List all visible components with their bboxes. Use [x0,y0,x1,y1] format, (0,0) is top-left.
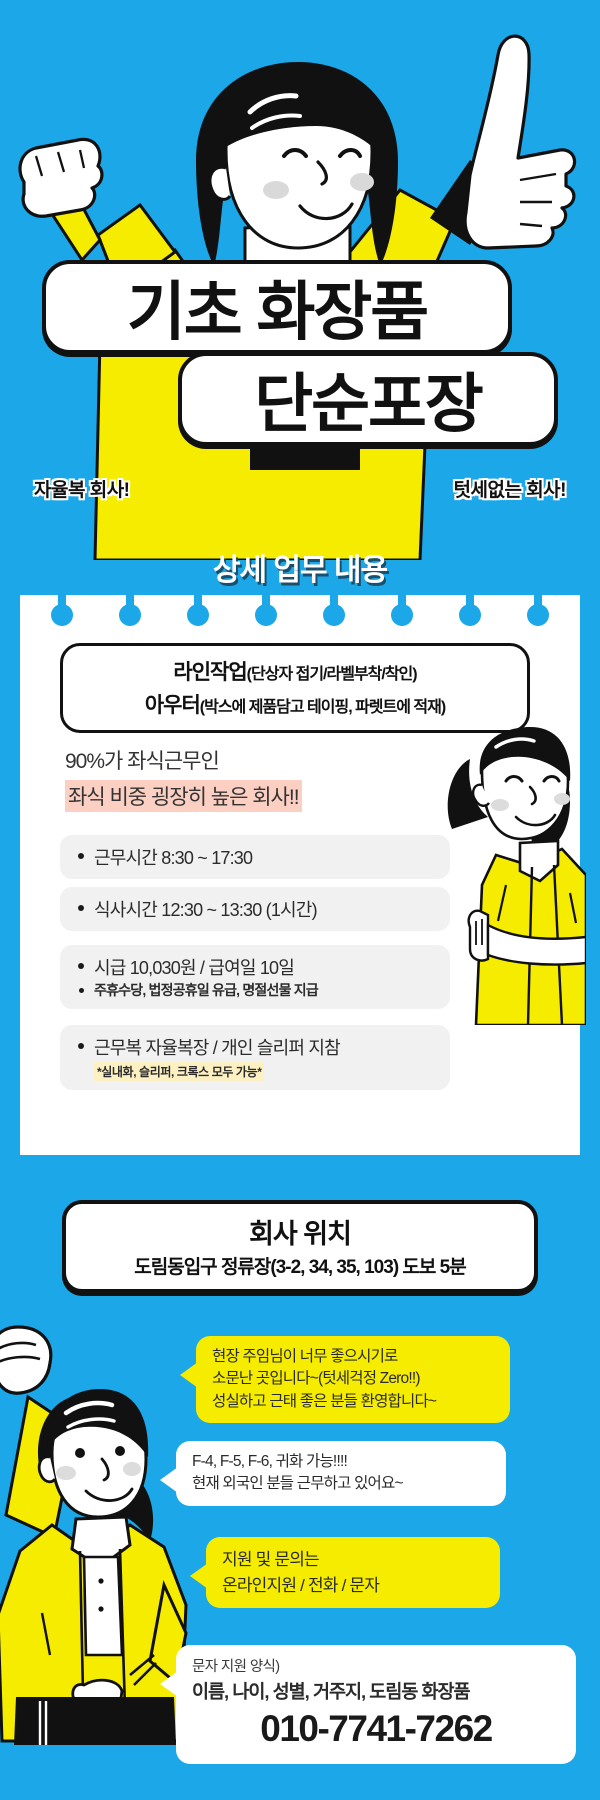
bubble-line: F-4, F-5, F-6, 귀화 가능!!!! [192,1451,490,1473]
title-line-1: 기초 화장품 [42,260,512,354]
seated-work-line-1: 90%가 좌식근무인 [65,745,405,775]
duties-illustration [436,725,586,1025]
duty-detail: (박스에 제품담고 테이핑, 파렛트에 적재) [200,699,445,716]
punch-hole [398,593,406,609]
speech-bubble-reputation: 현장 주임님이 너무 좋으시기로 소문난 곳입니다~(텃세걱정 Zero!!) … [196,1336,510,1423]
seated-work-note: 90%가 좌식근무인 좌식 비중 굉장히 높은 회사!! [65,745,405,812]
duty-title: 라인작업 [173,661,246,684]
bubble-tail-icon [160,1467,178,1493]
duty-item-text: 식사시간 12:30 ~ 13:30 (1시간) [94,896,317,922]
duty-item-wage: 시급 10,030원 / 급여일 10일 주휴수당, 법정공휴일 유급, 명절선… [60,945,450,1009]
tagline-right: 텃세없는 회사! [454,475,567,502]
bubble-line: 지원 및 문의는 [222,1547,484,1573]
duty-line: 아우터(박스에 제품담고 테이핑, 파렛트에 적재) [71,689,519,719]
punch-hole [58,593,66,609]
contact-bubble: 문자 지원 양식) 이름, 나이, 성별, 거주지, 도림동 화장품 010-7… [176,1645,576,1764]
phone-number[interactable]: 010-7741-7262 [192,1708,560,1750]
duty-detail: (단상자 접기/라벨부착/착인) [247,666,417,683]
speech-bubble-apply: 지원 및 문의는 온라인지원 / 전화 / 문자 [206,1537,500,1608]
duty-title: 아우터 [145,694,200,717]
punch-hole [534,593,542,609]
duty-item-text: 근무복 자율복장 / 개인 슬리퍼 지참 [94,1034,340,1060]
bubble-tail-icon [180,1362,198,1388]
bullet-dot-icon [78,1043,84,1049]
duty-summary-box: 라인작업(단상자 접기/라벨부착/착인) 아우터(박스에 제품담고 테이핑, 파… [60,643,530,733]
duty-item-text: 근무시간 8:30 ~ 17:30 [94,844,252,870]
location-detail: 도림동입구 정류장(3-2, 34, 35, 103) 도보 5분 [76,1252,524,1279]
bullet-dot-icon [78,853,84,859]
bubble-line: 온라인지원 / 전화 / 문자 [222,1573,484,1599]
arc-headline [0,4,600,184]
location-box: 회사 위치 도림동입구 정류장(3-2, 34, 35, 103) 도보 5분 [62,1200,538,1293]
bullet-dot-icon [79,988,84,993]
bullet-dot-icon [78,963,84,969]
duty-item-meal-time: 식사시간 12:30 ~ 13:30 (1시간) [60,887,450,931]
sms-form-label: 문자 지원 양식) [192,1655,560,1676]
duties-heading: 상세 업무 내용 [0,545,600,589]
bubble-tail-icon [190,1563,208,1589]
sms-form-fields: 이름, 나이, 성별, 거주지, 도림동 화장품 [192,1678,560,1704]
duty-item-note: *실내화, 슬리퍼, 크록스 모두 가능* [94,1062,264,1081]
title-line-2: 단순포장 [178,352,558,446]
duty-item-dress-code: 근무복 자율복장 / 개인 슬리퍼 지참 *실내화, 슬리퍼, 크록스 모두 가… [60,1025,450,1090]
duty-line: 라인작업(단상자 접기/라벨부착/착인) [71,656,519,686]
bubble-line: 현재 외국인 분들 근무하고 있어요~ [192,1473,490,1495]
punch-hole [194,593,202,609]
bubble-line: 현장 주임님이 너무 좋으시기로 [212,1346,494,1368]
bubble-line: 소문난 곳입니다~(텃세걱정 Zero!!) [212,1368,494,1390]
punch-hole [126,593,134,609]
punch-hole [466,593,474,609]
duty-item-text: 시급 10,030원 / 급여일 10일 [94,954,294,980]
punch-hole-row [20,595,580,625]
duties-panel: 라인작업(단상자 접기/라벨부착/착인) 아우터(박스에 제품담고 테이핑, 파… [20,595,580,1155]
bubble-tail-icon [160,1671,178,1697]
speech-bubble-visa: F-4, F-5, F-6, 귀화 가능!!!! 현재 외국인 분들 근무하고 … [176,1441,506,1506]
bullet-dot-icon [78,905,84,911]
poster-canvas: // bind arc text into the <textPath> (fu… [0,0,600,1800]
duty-item-work-hours: 근무시간 8:30 ~ 17:30 [60,835,450,879]
punch-hole [262,593,270,609]
duty-item-subtext: 주휴수당, 법정공휴일 유급, 명절선물 지급 [94,980,318,1000]
punch-hole [330,593,338,609]
seated-work-line-2: 좌식 비중 굉장히 높은 회사!! [65,780,302,812]
location-title: 회사 위치 [76,1212,524,1251]
tagline-left: 자율복 회사! [34,475,130,502]
bubble-line: 성실하고 근태 좋은 분들 환영합니다~ [212,1391,494,1413]
